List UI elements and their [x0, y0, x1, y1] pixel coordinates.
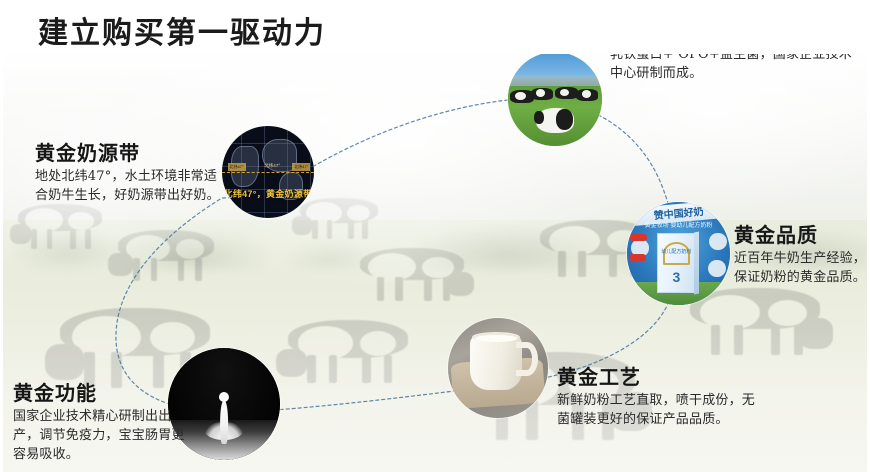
body-golden-craft: 新鲜奶粉工艺直取，喷干成份，无菌罐装更好的保证产品品质。: [557, 391, 757, 429]
pasture-cow: [576, 89, 599, 101]
pasture-cow: [555, 87, 578, 99]
text-block-golden-quality: 黄金品质 近百年牛奶生产经验，保证奶粉的黄金品质。: [734, 222, 870, 287]
page-title: 建立购买第一驱动力: [38, 8, 326, 52]
heading-golden-function: 黄金功能: [13, 380, 193, 406]
product-chip-red: [630, 234, 646, 241]
latitude-chip-right: 北纬47°: [292, 163, 310, 171]
body-golden-quality: 近百年牛奶生产经验，保证奶粉的黄金品质。: [734, 249, 870, 287]
latitude-chip-left: 北纬47°: [228, 163, 246, 171]
pasture-cow: [531, 88, 554, 100]
photo-node-product-box[interactable]: 赞中国好奶 黄金牧场 婴幼儿配方奶粉 幼儿配方奶粉 3: [627, 202, 730, 305]
product-chip-red: [629, 254, 645, 261]
latitude-label-mid: 北纬47°: [264, 163, 280, 169]
photo-node-milk-source-map[interactable]: 北纬47° 北纬47° 北纬47° 北纬47°，黄金奶源带: [222, 126, 314, 218]
heading-milk-source-belt: 黄金奶源带: [35, 140, 225, 166]
product-package: 幼儿配方奶粉 3: [657, 233, 696, 293]
jug-handle: [516, 342, 538, 376]
infographic-poster: 北纬47° 北纬47° 北纬47° 北纬47°，黄金奶源带 赞中国好奶 黄金牧场…: [0, 0, 870, 472]
product-box-stage: 3: [658, 269, 695, 285]
text-block-golden-craft: 黄金工艺 新鲜奶粉工艺直取，喷干成份，无菌罐装更好的保证产品品质。: [557, 364, 757, 429]
photo-node-pasture-cows[interactable]: [508, 52, 602, 146]
text-block-milk-source-belt: 黄金奶源带 地处北纬47°，水土环境非常适合奶牛生长，好奶源带出好奶。: [35, 140, 225, 205]
drop-splash-column: [220, 400, 228, 445]
map-caption: 北纬47°，黄金奶源带: [222, 187, 314, 200]
photo-node-milk-jug[interactable]: [448, 318, 548, 418]
product-box-title: 幼儿配方奶粉: [661, 249, 692, 255]
product-chip: [708, 260, 726, 278]
body-golden-function: 国家企业技术精心研制出出产，调节免疫力，宝宝肠胃更容易吸收。: [13, 407, 193, 464]
jug-vessel: [470, 334, 522, 390]
pasture-cow-lying: [536, 108, 574, 132]
heading-golden-craft: 黄金工艺: [557, 364, 757, 390]
latitude-line: [222, 172, 314, 173]
text-block-golden-function: 黄金功能 国家企业技术精心研制出出产，调节免疫力，宝宝肠胃更容易吸收。: [13, 380, 193, 464]
body-milk-source-belt: 地处北纬47°，水土环境非常适合奶牛生长，好奶源带出好奶。: [35, 167, 225, 205]
heading-golden-quality: 黄金品质: [734, 222, 870, 248]
title-bar: 建立购买第一驱动力: [0, 0, 870, 54]
